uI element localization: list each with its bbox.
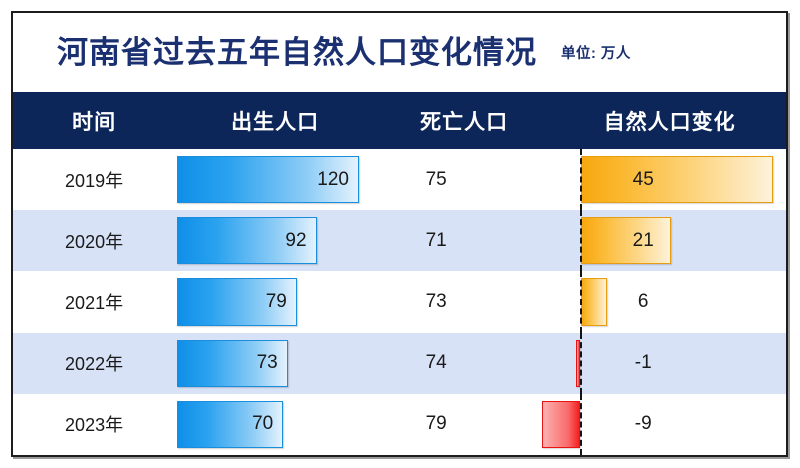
cell-deaths: 75 (375, 149, 553, 210)
title-bar: 河南省过去五年自然人口变化情况 单位: 万人 (13, 13, 786, 92)
cell-natural-change: 21 (553, 210, 786, 271)
natural-change-value: 45 (581, 169, 705, 191)
year-label: 2021年 (13, 271, 175, 332)
chart-frame: 河南省过去五年自然人口变化情况 单位: 万人 时间 出生人口 死亡人口 自然人口… (11, 11, 788, 457)
cell-year: 2019年 (13, 149, 175, 210)
births-bar: 92 (177, 217, 316, 264)
cell-deaths: 79 (375, 394, 553, 455)
table-row: 2020年927121 (13, 210, 786, 271)
births-value: 70 (252, 413, 273, 435)
cell-natural-change: -1 (553, 333, 786, 394)
cell-deaths: 71 (375, 210, 553, 271)
year-label: 2020年 (13, 210, 175, 271)
natural-change-value: 21 (581, 230, 705, 252)
cell-natural-change: 45 (553, 149, 786, 210)
table-row: 2019年1207545 (13, 149, 786, 210)
deaths-value: 73 (375, 271, 553, 332)
deaths-value: 74 (375, 333, 553, 394)
cell-births: 79 (175, 271, 375, 332)
column-header-deaths: 死亡人口 (375, 92, 553, 149)
births-value: 73 (257, 352, 278, 374)
year-label: 2019年 (13, 149, 175, 210)
births-value: 79 (266, 291, 287, 313)
cell-births: 73 (175, 333, 375, 394)
table-body: 2019年12075452020年9271212021年797362022年73… (13, 149, 786, 455)
cell-natural-change: -9 (553, 394, 786, 455)
cell-year: 2022年 (13, 333, 175, 394)
year-label: 2022年 (13, 333, 175, 394)
cell-deaths: 74 (375, 333, 553, 394)
cell-natural-change: 6 (553, 271, 786, 332)
column-header-change: 自然人口变化 (553, 92, 786, 149)
table-row: 2022年7374-1 (13, 333, 786, 394)
column-header-time: 时间 (13, 92, 175, 149)
unit-label: 单位: 万人 (561, 42, 631, 63)
deaths-value: 71 (375, 210, 553, 271)
cell-year: 2021年 (13, 271, 175, 332)
births-bar: 70 (177, 401, 283, 448)
deaths-value: 75 (375, 149, 553, 210)
births-value: 120 (317, 169, 349, 191)
cell-deaths: 73 (375, 271, 553, 332)
column-header-births: 出生人口 (175, 92, 375, 149)
cell-year: 2020年 (13, 210, 175, 271)
natural-change-value: 6 (581, 291, 705, 313)
births-bar: 79 (177, 278, 297, 325)
cell-births: 70 (175, 394, 375, 455)
natural-change-value: -1 (581, 352, 705, 374)
table-header-row: 时间 出生人口 死亡人口 自然人口变化 (13, 92, 786, 149)
births-value: 92 (285, 230, 306, 252)
births-bar: 120 (177, 156, 359, 203)
table-row: 2021年79736 (13, 271, 786, 332)
page-title: 河南省过去五年自然人口变化情况 (57, 37, 537, 68)
cell-births: 120 (175, 149, 375, 210)
cell-year: 2023年 (13, 394, 175, 455)
year-label: 2023年 (13, 394, 175, 455)
natural-change-bar-negative (542, 401, 580, 448)
natural-change-value: -9 (581, 413, 705, 435)
births-bar: 73 (177, 340, 288, 387)
cell-births: 92 (175, 210, 375, 271)
table-row: 2023年7079-9 (13, 394, 786, 455)
deaths-value: 79 (375, 394, 553, 455)
